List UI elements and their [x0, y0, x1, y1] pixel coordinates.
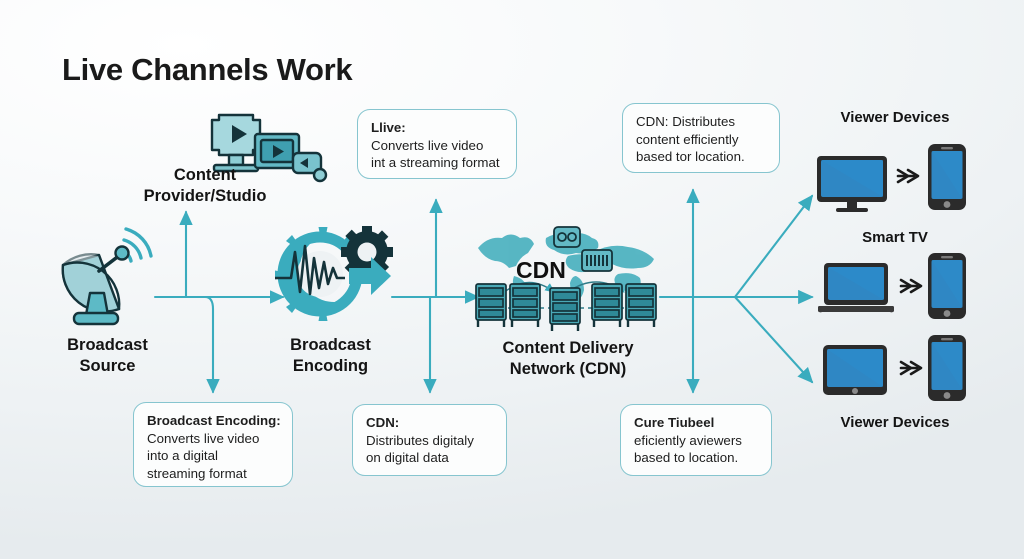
wire-down-broadcast-encoding-box [205, 297, 213, 392]
diagram-canvas: Live Channels Work [0, 0, 1024, 559]
laptop-icon [818, 262, 894, 321]
double-chevron-right-icon [895, 163, 925, 194]
callout-broadcast-encoding-heading: Broadcast Encoding: [147, 412, 281, 430]
node-label-broadcast-source: Broadcast Source [20, 335, 195, 377]
callout-live: Llive: Converts live video int a streami… [357, 109, 517, 179]
callout-live-body: Converts live video int a streaming form… [371, 137, 505, 172]
viewer-devices-top-label: Viewer Devices [810, 108, 980, 128]
smart-tv-label: Smart TV [810, 228, 980, 248]
callout-cure-tiubeel-heading: Cure Tiubeel [634, 414, 760, 432]
smartphone-icon [927, 252, 967, 325]
callout-live-heading: Llive: [371, 119, 505, 137]
server-racks-world-map-icon: CDN [468, 222, 668, 342]
callout-cdn-bottom-heading: CDN: [366, 414, 495, 432]
node-label-broadcast-encoding: Broadcast Encoding [248, 335, 413, 377]
monitor-icon [816, 155, 888, 218]
callout-cdn-top-heading: CDN: Distributes [636, 113, 768, 131]
callout-cdn-top: CDN: Distributes content efficiently bas… [622, 103, 780, 173]
callout-cdn-bottom: CDN: Distributes digitaly on digital dat… [352, 404, 507, 476]
callout-cure-tiubeel: Cure Tiubeel eficiently aviewers based t… [620, 404, 772, 476]
wire-junction-to-tablet [735, 297, 812, 382]
page-title: Live Channels Work [62, 52, 352, 88]
node-label-cdn: Content Delivery Network (CDN) [468, 338, 668, 380]
viewer-devices-bottom-label: Viewer Devices [810, 413, 980, 433]
double-chevron-right-icon [898, 273, 928, 304]
node-label-content-provider: Content Provider/Studio [110, 165, 300, 207]
smartphone-icon [927, 334, 967, 407]
callout-cdn-top-body: content efficiently based tor location. [636, 131, 768, 166]
wire-junction-to-tv [735, 196, 812, 297]
double-chevron-right-icon [898, 355, 928, 386]
cdn-map-label: CDN [516, 257, 566, 283]
tablet-icon [822, 344, 888, 401]
gears-waveform-icon [275, 224, 393, 329]
callout-cure-tiubeel-body: eficiently aviewers based to location. [634, 432, 760, 467]
callout-broadcast-encoding: Broadcast Encoding: Converts live video … [133, 402, 293, 487]
callout-broadcast-encoding-body: Converts live video into a digital strea… [147, 430, 281, 483]
smartphone-icon [927, 143, 967, 216]
callout-cdn-bottom-body: Distributes digitaly on digital data [366, 432, 495, 467]
satellite-dish-icon [52, 225, 160, 335]
